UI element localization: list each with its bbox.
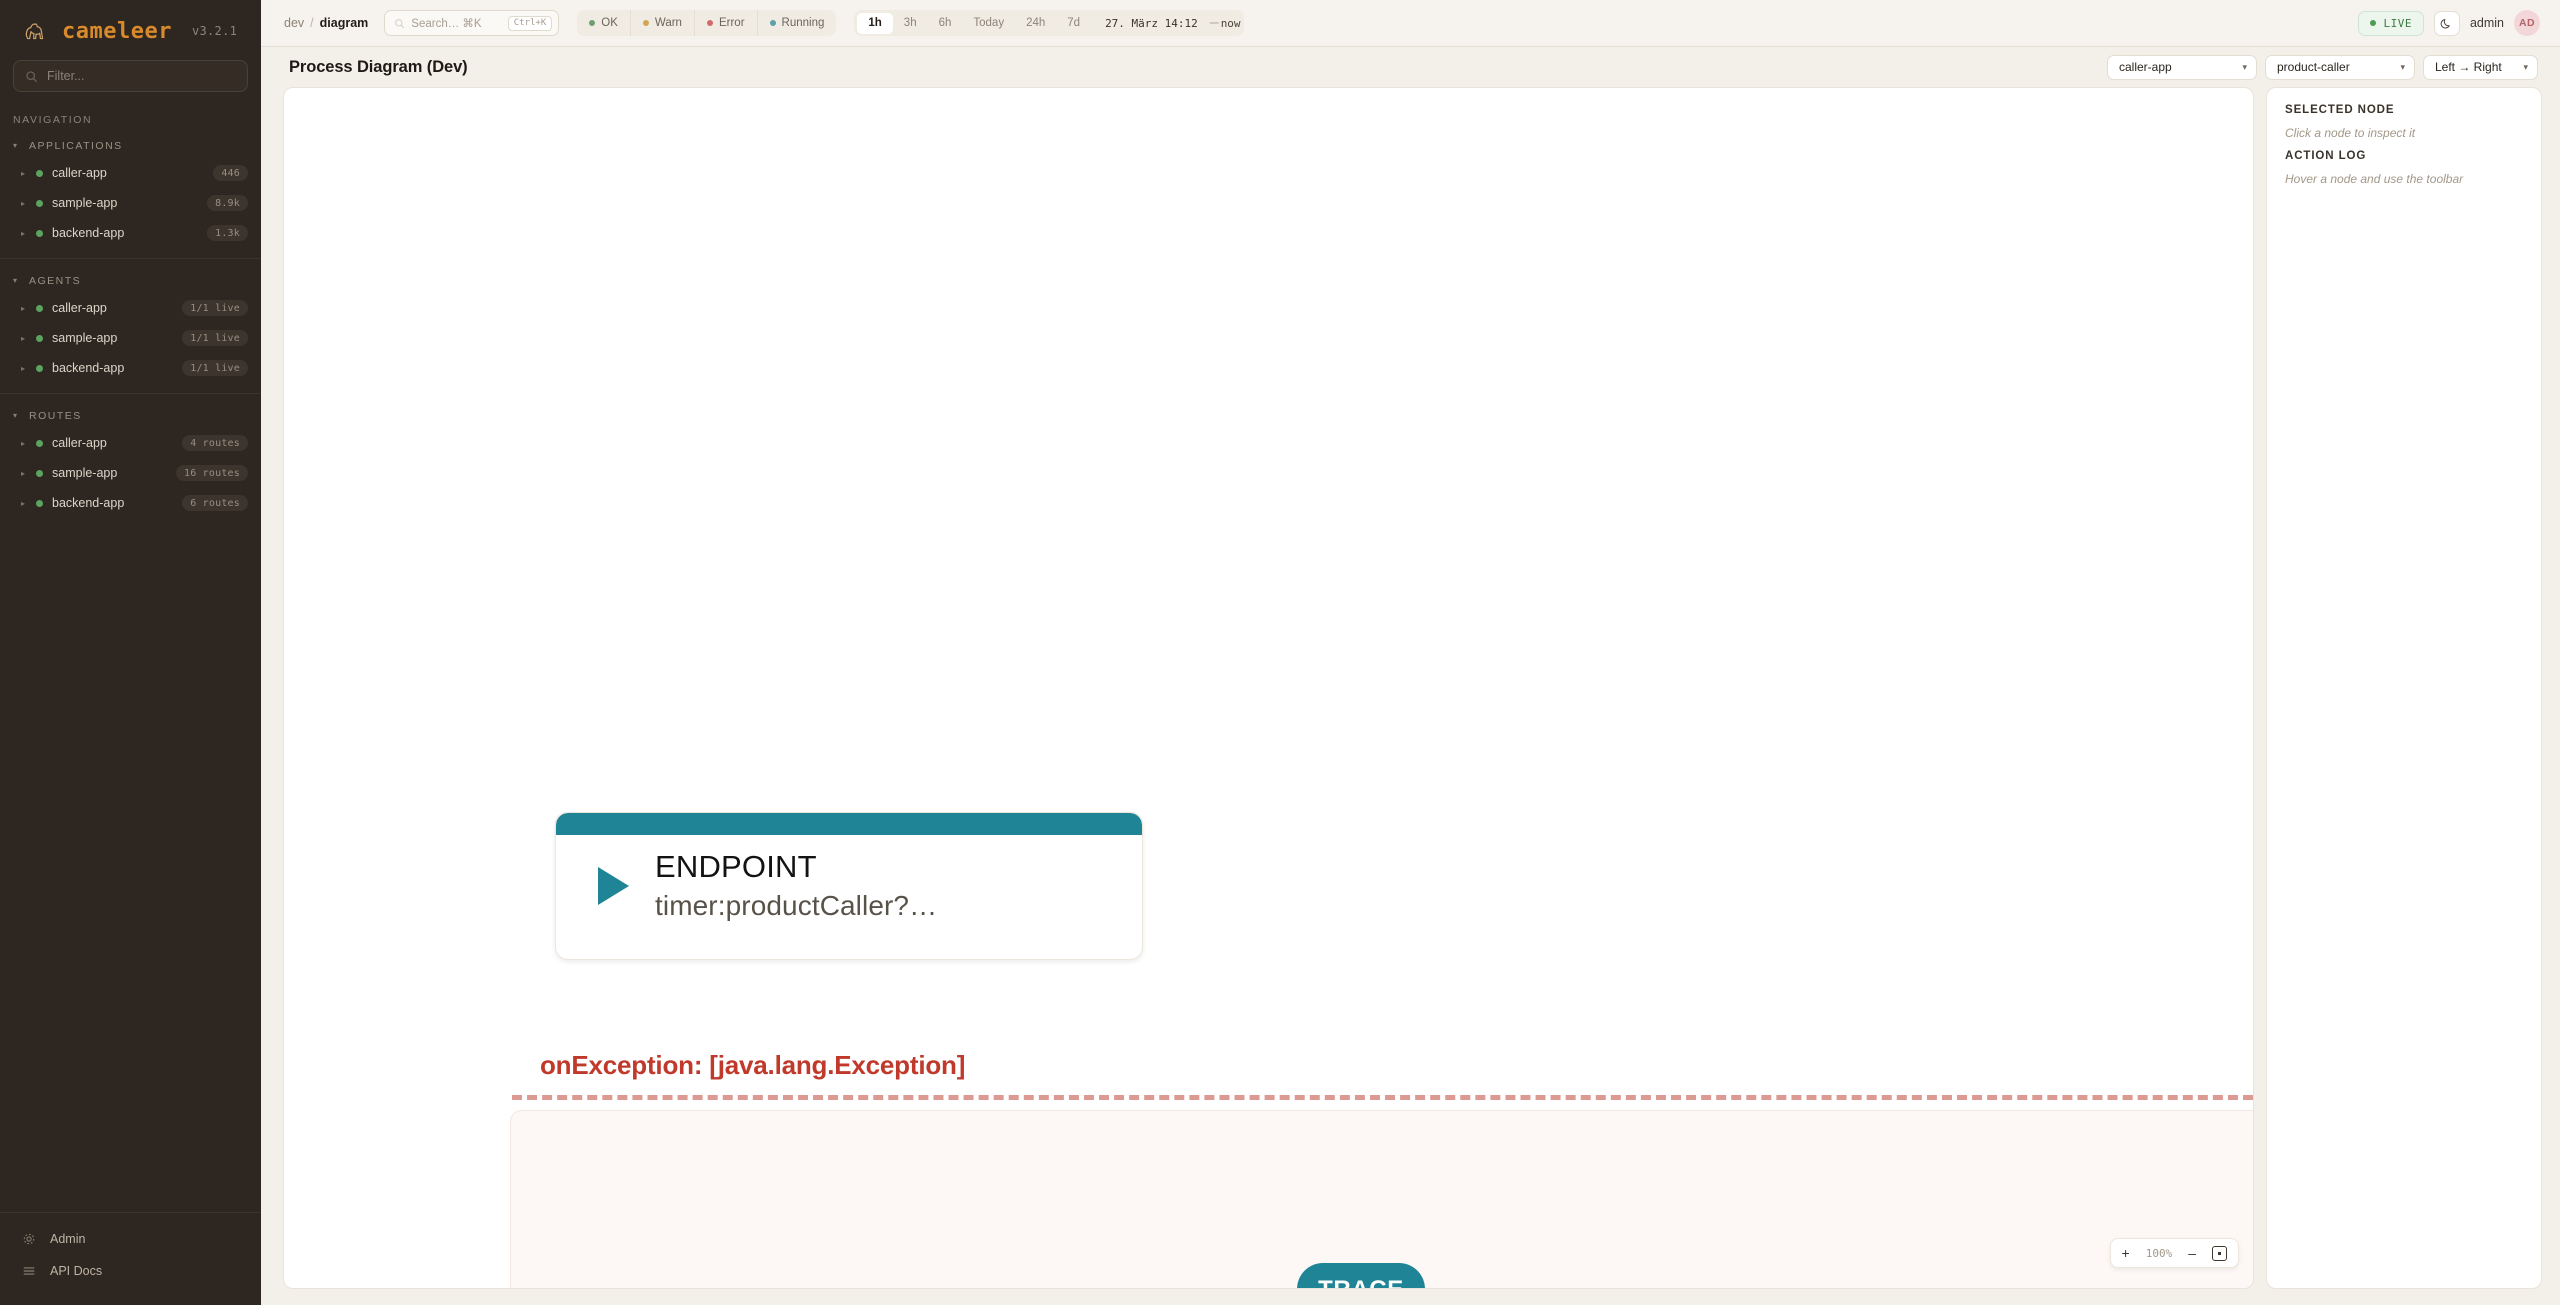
item-label: backend-app <box>52 361 173 375</box>
chevron-down-icon: ▾ <box>2523 62 2528 73</box>
status-filter-warn[interactable]: Warn <box>631 10 695 36</box>
trace-node[interactable]: TRACE <box>1297 1263 1425 1289</box>
group-label: ROUTES <box>29 410 82 422</box>
live-dot <box>2370 20 2376 26</box>
exception-divider <box>512 1095 2253 1100</box>
node-body: ENDPOINT timer:productCaller?… <box>556 835 1142 922</box>
zoom-out-button[interactable]: – <box>2188 1246 2196 1260</box>
action-log-hint: Hover a node and use the toolbar <box>2285 172 2523 186</box>
topbar-right: LIVE admin AD <box>2358 10 2540 36</box>
time-range-1h[interactable]: 1h <box>857 13 892 34</box>
time-range-dash: – <box>1208 14 1221 32</box>
diagram-node-endpoint[interactable]: ENDPOINT timer:productCaller?… <box>555 812 1143 960</box>
item-label: sample-app <box>52 466 167 480</box>
zoom-in-button[interactable]: + <box>2122 1246 2130 1260</box>
search-input[interactable]: Search… ⌘K Ctrl+K <box>384 10 559 36</box>
search-placeholder: Search… ⌘K <box>411 16 501 30</box>
sidebar-item-admin[interactable]: Admin <box>0 1223 261 1255</box>
time-range-to: now <box>1221 17 1241 30</box>
status-filter-running[interactable]: Running <box>758 10 837 36</box>
sidebar-filter-wrap: Filter... <box>0 58 261 92</box>
time-range-from: 27. März 14:12 <box>1091 17 1208 30</box>
group-label: AGENTS <box>29 275 81 287</box>
status-dot <box>36 230 43 237</box>
sidebar-group-applications: ▾ APPLICATIONS ▸ caller-app 446 ▸ sample… <box>0 132 261 248</box>
node-uri-label: timer:productCaller?… <box>655 890 937 922</box>
chevron-right-icon: ▸ <box>21 469 27 478</box>
time-range-7d[interactable]: 7d <box>1056 13 1091 34</box>
sidebar: cameleer v3.2.1 Filter... NAVIGATION ▾ A… <box>0 0 261 1305</box>
application-select[interactable]: caller-app ▾ <box>2107 55 2257 80</box>
item-badge: 1/1 live <box>182 300 248 316</box>
navigation-title: NAVIGATION <box>0 92 261 132</box>
sidebar-group-agents: ▾ AGENTS ▸ caller-app 1/1 live ▸ sample-… <box>0 258 261 383</box>
status-dot <box>36 170 43 177</box>
user-name: admin <box>2470 16 2504 30</box>
sidebar-item-agents-backend-app[interactable]: ▸ backend-app 1/1 live <box>0 353 261 383</box>
sidebar-item-api-docs[interactable]: API Docs <box>0 1255 261 1287</box>
breadcrumb-separator: / <box>310 16 313 30</box>
chevron-right-icon: ▸ <box>21 229 27 238</box>
body-area: ENDPOINT timer:productCaller?… onExcepti… <box>261 87 2560 1305</box>
status-label: Running <box>782 17 825 29</box>
item-label: backend-app <box>52 496 173 510</box>
page-header-controls: caller-app ▾ product-caller ▾ Left → Rig… <box>2107 55 2538 80</box>
sidebar-item-applications-backend-app[interactable]: ▸ backend-app 1.3k <box>0 218 261 248</box>
node-texts: ENDPOINT timer:productCaller?… <box>655 849 937 922</box>
item-badge: 1/1 live <box>182 330 248 346</box>
exception-region-panel: TRACE <box>510 1110 2254 1289</box>
brand-version: v3.2.1 <box>192 24 237 38</box>
trace-label: TRACE <box>1318 1276 1404 1289</box>
route-select[interactable]: product-caller ▾ <box>2265 55 2415 80</box>
footer-label: API Docs <box>50 1264 102 1278</box>
item-badge: 446 <box>213 165 248 181</box>
status-label: Error <box>719 17 745 29</box>
node-header-bar <box>556 813 1142 835</box>
chevron-right-icon: ▸ <box>21 199 27 208</box>
zoom-control: + 100% – <box>2110 1238 2239 1268</box>
item-label: caller-app <box>52 166 204 180</box>
status-filter-ok[interactable]: OK <box>577 10 631 36</box>
chevron-right-icon: ▸ <box>21 364 27 373</box>
page-header: Process Diagram (Dev) caller-app ▾ produ… <box>261 47 2560 87</box>
main-area: dev / diagram Search… ⌘K Ctrl+K OK <box>261 0 2560 1305</box>
item-label: caller-app <box>52 301 173 315</box>
item-badge: 4 routes <box>182 435 248 451</box>
sidebar-item-agents-caller-app[interactable]: ▸ caller-app 1/1 live <box>0 293 261 323</box>
brand-name: cameleer <box>62 19 172 44</box>
item-badge: 1/1 live <box>182 360 248 376</box>
breadcrumb-root[interactable]: dev <box>284 16 304 30</box>
status-dot <box>36 305 43 312</box>
gear-icon <box>22 1232 36 1246</box>
status-dot <box>36 440 43 447</box>
sidebar-item-applications-sample-app[interactable]: ▸ sample-app 8.9k <box>0 188 261 218</box>
breadcrumb: dev / diagram <box>284 16 368 30</box>
chevron-down-icon: ▾ <box>13 142 20 150</box>
direction-select-value: Left → Right <box>2435 60 2502 74</box>
status-dot <box>36 470 43 477</box>
live-label: LIVE <box>2383 17 2412 30</box>
group-header-agents[interactable]: ▾ AGENTS <box>0 273 261 293</box>
status-dot <box>36 365 43 372</box>
page-title: Process Diagram (Dev) <box>289 58 468 77</box>
chevron-down-icon: ▾ <box>13 277 20 285</box>
application-select-value: caller-app <box>2119 60 2172 74</box>
status-dot <box>36 335 43 342</box>
item-badge: 6 routes <box>182 495 248 511</box>
zoom-level: 100% <box>2146 1247 2173 1260</box>
chevron-right-icon: ▸ <box>21 439 27 448</box>
status-dot <box>36 500 43 507</box>
sidebar-item-routes-sample-app[interactable]: ▸ sample-app 16 routes <box>0 458 261 488</box>
item-badge: 1.3k <box>207 225 248 241</box>
status-filter-group: OK Warn Error Running <box>577 10 836 36</box>
sidebar-item-agents-sample-app[interactable]: ▸ sample-app 1/1 live <box>0 323 261 353</box>
search-shortcut-badge: Ctrl+K <box>508 16 553 31</box>
avatar[interactable]: AD <box>2514 10 2540 36</box>
item-badge: 8.9k <box>207 195 248 211</box>
item-badge: 16 routes <box>176 465 248 481</box>
sidebar-item-routes-backend-app[interactable]: ▸ backend-app 6 routes <box>0 488 261 518</box>
sidebar-footer: Admin API Docs <box>0 1212 261 1305</box>
theme-toggle-button[interactable] <box>2434 11 2460 36</box>
status-dot-ok <box>589 20 595 26</box>
direction-select[interactable]: Left → Right ▾ <box>2423 55 2538 80</box>
brand[interactable]: cameleer v3.2.1 <box>0 0 261 58</box>
search-icon <box>394 18 405 29</box>
chevron-right-icon: ▸ <box>21 499 27 508</box>
search-icon <box>25 70 38 83</box>
chevron-right-icon: ▸ <box>21 169 27 178</box>
status-dot-error <box>707 20 713 26</box>
status-label: Warn <box>655 17 682 29</box>
footer-label: Admin <box>50 1232 85 1246</box>
chevron-down-icon: ▾ <box>2400 62 2405 73</box>
fit-to-screen-icon[interactable] <box>2212 1246 2227 1261</box>
time-range-3h[interactable]: 3h <box>893 13 928 34</box>
selected-node-title: SELECTED NODE <box>2285 104 2523 116</box>
diagram-canvas[interactable]: ENDPOINT timer:productCaller?… onExcepti… <box>283 87 2254 1289</box>
time-range-6h[interactable]: 6h <box>928 13 963 34</box>
live-status-badge[interactable]: LIVE <box>2358 11 2424 36</box>
sidebar-item-applications-caller-app[interactable]: ▸ caller-app 446 <box>0 158 261 188</box>
camel-icon <box>22 18 48 44</box>
node-kind-label: ENDPOINT <box>655 849 937 885</box>
time-range-24h[interactable]: 24h <box>1015 13 1056 34</box>
chevron-down-icon: ▾ <box>2242 62 2247 73</box>
time-range-group: 1h 3h 6h Today 24h 7d 27. März 14:12 – n… <box>854 10 1243 36</box>
status-label: OK <box>601 17 618 29</box>
exception-handler-label: onException: [java.lang.Exception] <box>540 1050 965 1081</box>
chevron-right-icon: ▸ <box>21 304 27 313</box>
menu-icon <box>22 1264 36 1278</box>
app-root: cameleer v3.2.1 Filter... NAVIGATION ▾ A… <box>0 0 2560 1305</box>
sidebar-item-routes-caller-app[interactable]: ▸ caller-app 4 routes <box>0 428 261 458</box>
selected-node-hint: Click a node to inspect it <box>2285 126 2523 140</box>
item-label: sample-app <box>52 196 198 210</box>
moon-icon <box>2440 17 2453 30</box>
chevron-down-icon: ▾ <box>13 412 20 420</box>
status-dot <box>36 200 43 207</box>
time-range-today[interactable]: Today <box>962 13 1015 34</box>
chevron-right-icon: ▸ <box>21 334 27 343</box>
status-dot-warn <box>643 20 649 26</box>
group-label: APPLICATIONS <box>29 140 123 152</box>
filter-input[interactable]: Filter... <box>13 60 248 92</box>
breadcrumb-current: diagram <box>320 16 369 30</box>
inspector-panel: SELECTED NODE Click a node to inspect it… <box>2266 87 2542 1289</box>
item-label: sample-app <box>52 331 173 345</box>
item-label: backend-app <box>52 226 198 240</box>
topbar: dev / diagram Search… ⌘K Ctrl+K OK <box>261 0 2560 47</box>
status-filter-error[interactable]: Error <box>695 10 758 36</box>
action-log-title: ACTION LOG <box>2285 150 2523 162</box>
item-label: caller-app <box>52 436 173 450</box>
route-select-value: product-caller <box>2277 60 2350 74</box>
sidebar-group-routes: ▾ ROUTES ▸ caller-app 4 routes ▸ sample-… <box>0 393 261 518</box>
group-header-applications[interactable]: ▾ APPLICATIONS <box>0 138 261 158</box>
filter-placeholder: Filter... <box>47 69 85 83</box>
play-triangle-icon <box>598 867 629 905</box>
status-dot-running <box>770 20 776 26</box>
group-header-routes[interactable]: ▾ ROUTES <box>0 408 261 428</box>
